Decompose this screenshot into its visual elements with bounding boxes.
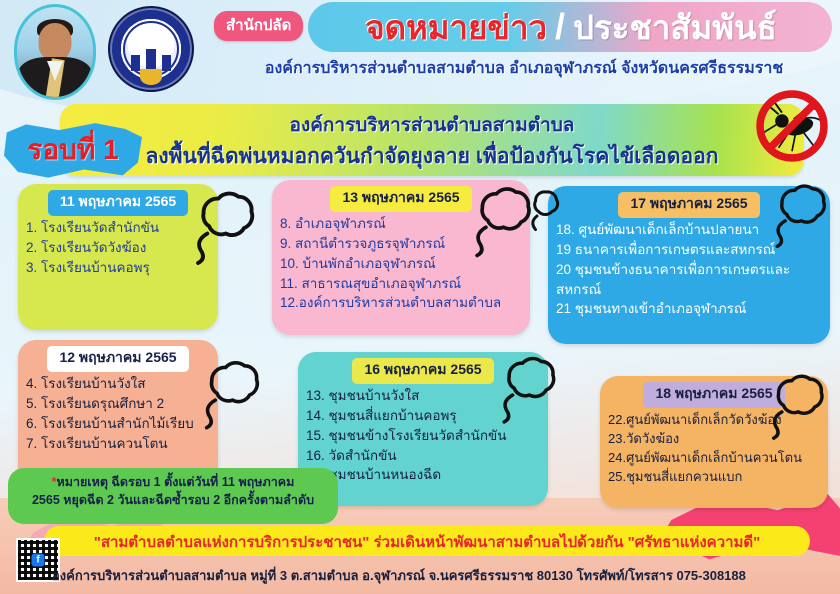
list-item: 3. โรงเรียนบ้านคอพรุ [26,258,210,278]
no-mosquito-icon [750,84,834,168]
card-date-chip: 12 พฤษภาคม 2565 [47,346,188,372]
card-date-wrap: 12 พฤษภาคม 2565 [26,346,210,372]
card-item-list: 8. อำเภอจุฬาภรณ์ 9. สถานีตำรวจภูธรจุฬาภร… [280,214,522,313]
schedule-card[interactable]: 11 พฤษภาคม 2565 1. โรงเรียนวัดสำนักขัน 2… [18,184,218,330]
list-item: 9. สถานีตำรวจภูธรจุฬาภรณ์ [280,234,522,254]
poster-root: สำนักปลัด จดหมายข่าว / ประชาสัมพันธ์ องค… [0,0,840,594]
card-item-list: 1. โรงเรียนวัดสำนักขัน 2. โรงเรียนวัดวัง… [26,218,210,278]
list-item: 20 ชุมชนข้างธนาคารเพื่อการเกษตรและ [556,260,822,280]
card-date-wrap: 18 พฤษภาคม 2565 [608,382,820,408]
list-item: 22.ศูนย์พัฒนาเด็กเล็กวัดวังฆ้อง [608,410,820,429]
executive-portrait [14,4,96,100]
schedule-card[interactable]: 13 พฤษภาคม 2565 8. อำเภอจุฬาภรณ์ 9. สถาน… [272,180,530,335]
list-item: 19 ธนาคารเพื่อการเกษตรและสหกรณ์ [556,240,822,260]
list-item: 1. โรงเรียนวัดสำนักขัน [26,218,210,238]
card-date-wrap: 11 พฤษภาคม 2565 [26,190,210,216]
title-part-pr: ประชาสัมพันธ์ [573,1,777,54]
list-item: 4. โรงเรียนบ้านวังใส [26,374,210,394]
card-date-wrap: 13 พฤษภาคม 2565 [280,186,522,212]
list-item: 18. ศูนย์พัฒนาเด็กเล็กบ้านปลายนา [556,220,822,240]
note-text-1: หมายเหตุ ฉีดรอบ 1 ตั้งแต่วันที่ 11 พฤษภา… [56,475,294,489]
list-item: 24.ศูนย์พัฒนาเด็กเล็กบ้านควนโตน [608,448,820,467]
card-item-list: 22.ศูนย์พัฒนาเด็กเล็กวัดวังฆ้อง 23.วัดวั… [608,410,820,486]
round-badge-label: รอบที่ 1 [4,128,142,172]
footer-address: องค์การบริหารส่วนตำบลสามตำบล หมู่ที่ 3 ต… [52,565,840,586]
organization-seal-icon [108,6,194,92]
list-item: 25.ชุมชนสี่แยกควนแบก [608,467,820,486]
list-item: 14. ชุมชนสี่แยกบ้านคอพรุ [306,406,540,426]
card-date-chip: 16 พฤษภาคม 2565 [352,358,493,384]
card-date-wrap: 17 พฤษภาคม 2565 [556,192,822,218]
seal-ring [110,8,192,90]
card-date-chip: 13 พฤษภาคม 2565 [330,186,471,212]
organization-subtitle: องค์การบริหารส่วนตำบลสามตำบล อำเภอจุฬาภร… [214,56,834,81]
facebook-icon: f [32,554,45,567]
portrait-face [39,23,72,61]
list-item: 15. ชุมชนข้างโรงเรียนวัดสำนักขัน [306,426,540,446]
list-item: 2. โรงเรียนวัดวังฆ้อง [26,238,210,258]
card-item-list: 4. โรงเรียนบ้านวังใส 5. โรงเรียนดรุณศึกษ… [26,374,210,453]
announcement-line-1: องค์การบริหารส่วนตำบลสามตำบล [60,110,804,140]
note-line-1: *หมายเหตุ ฉีดรอบ 1 ตั้งแต่วันที่ 11 พฤษภ… [16,473,330,491]
list-item: 5. โรงเรียนดรุณศึกษา 2 [26,394,210,414]
list-item: 17. ชุมชนบ้านหนองฉีด [306,465,540,485]
list-item: 10. บ้านพักอำเภอจุฬาภรณ์ [280,254,522,274]
slogan-text: "สามตำบลตำบลแห่งการบริการประชาชน" ร่วมเด… [44,530,810,554]
list-item: 11. สาธารณสุขอำเภอจุฬาภรณ์ [280,274,522,294]
list-item: 21 ชุมชนทางเข้าอำเภอจุฬาภรณ์ [556,299,822,319]
list-item: 23.วัดวังฆ้อง [608,429,820,448]
card-date-chip: 17 พฤษภาคม 2565 [618,192,759,218]
list-item: 12.องค์การบริหารส่วนตำบลสามตำบล [280,293,522,313]
note-box: *หมายเหตุ ฉีดรอบ 1 ตั้งแต่วันที่ 11 พฤษภ… [8,468,338,524]
card-date-wrap: 16 พฤษภาคม 2565 [306,358,540,384]
title-separator: / [555,6,565,48]
office-badge: สำนักปลัด [214,11,303,41]
list-item: 13. ชุมชนบ้านวังใส [306,386,540,406]
announcement-line-2: ลงพื้นที่ฉีดพ่นหมอกควันกำจัดยุงลาย เพื่อ… [60,140,804,173]
card-item-list: 13. ชุมชนบ้านวังใส 14. ชุมชนสี่แยกบ้านคอ… [306,386,540,485]
page-title: จดหมายข่าว / ประชาสัมพันธ์ [312,5,830,49]
list-item: 7. โรงเรียนบ้านควนโตน [26,434,210,454]
list-item: 6. โรงเรียนบ้านสำนักไม้เรียบ [26,414,210,434]
list-item: 16. วัดสำนักขัน [306,446,540,466]
card-date-chip: 18 พฤษภาคม 2565 [643,382,784,408]
card-date-chip: 11 พฤษภาคม 2565 [48,190,188,216]
note-line-2: 2565 หยุดฉีด 2 วันและฉีดซ้ำรอบ 2 อีกครั้… [16,491,330,509]
list-item: 8. อำเภอจุฬาภรณ์ [280,214,522,234]
poster-header: สำนักปลัด จดหมายข่าว / ประชาสัมพันธ์ องค… [0,0,840,104]
schedule-card[interactable]: 18 พฤษภาคม 2565 22.ศูนย์พัฒนาเด็กเล็กวัด… [600,376,828,508]
card-item-list: 18. ศูนย์พัฒนาเด็กเล็กบ้านปลายนา 19 ธนาค… [556,220,822,319]
schedule-card[interactable]: 17 พฤษภาคม 2565 18. ศูนย์พัฒนาเด็กเล็กบ้… [548,186,830,344]
title-part-news: จดหมายข่าว [365,1,547,54]
list-item: สหกรณ์ [556,280,822,300]
